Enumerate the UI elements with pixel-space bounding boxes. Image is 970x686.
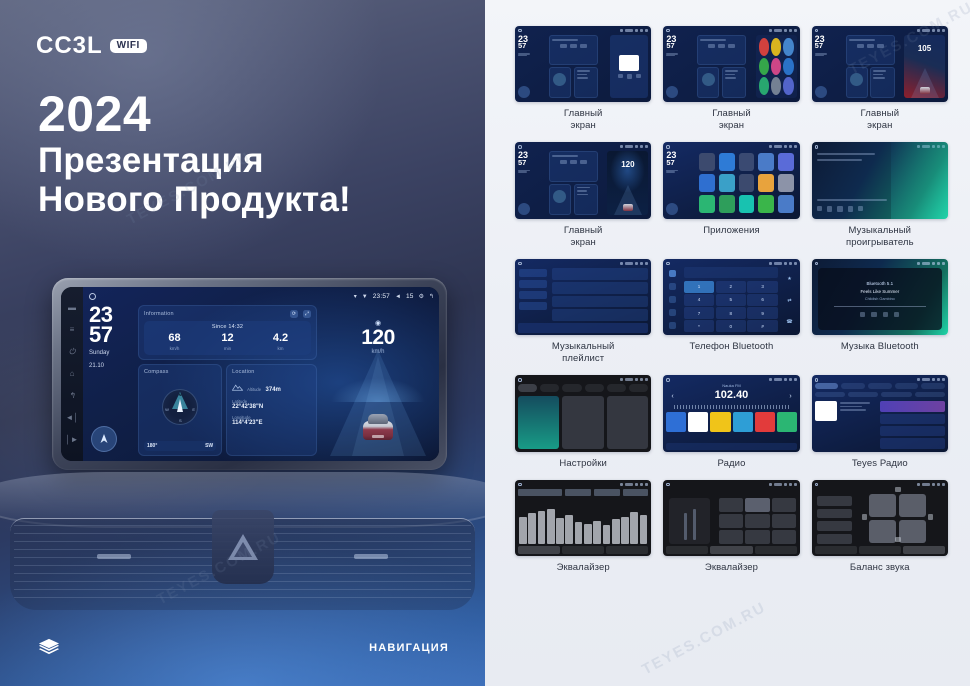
speaker-icon[interactable] — [899, 494, 926, 517]
radio-toolbar[interactable] — [666, 443, 796, 450]
screenshot-thumbnail[interactable] — [812, 375, 948, 451]
back-icon[interactable] — [942, 378, 945, 381]
information-actions[interactable]: ⟳ ⤢ — [290, 310, 311, 318]
eq-bands[interactable] — [519, 500, 647, 544]
eq-slider[interactable] — [575, 522, 583, 544]
track-row[interactable] — [552, 282, 649, 294]
compass-card[interactable] — [697, 67, 719, 98]
settings-card[interactable] — [562, 396, 603, 448]
gear-icon[interactable] — [789, 29, 792, 32]
mute-icon[interactable]: ≡ — [70, 326, 75, 334]
stat-value: 4.2 — [254, 333, 307, 344]
app-icon[interactable] — [739, 195, 755, 213]
screenshot-thumbnail[interactable]: Nauka FM102.40‹› — [663, 375, 799, 451]
station-preset[interactable] — [755, 412, 775, 432]
station-row[interactable] — [880, 426, 945, 437]
thumbnail-caption: Телефон Bluetooth — [690, 341, 774, 353]
eq-footer-tab[interactable] — [815, 546, 857, 554]
thumbnail-caption: Музыка Bluetooth — [841, 341, 919, 353]
eq-footer-tab[interactable] — [666, 546, 708, 554]
eq-footer-tabs[interactable] — [815, 546, 945, 554]
app-icon[interactable] — [739, 174, 755, 192]
volume-up-icon[interactable]: │► — [66, 436, 79, 444]
playlist-category[interactable] — [519, 269, 547, 277]
eq-preset[interactable] — [745, 514, 769, 528]
left-footer: НАВИГАЦИЯ — [0, 614, 485, 686]
settings-tab[interactable] — [540, 384, 559, 392]
screenshot-thumbnail[interactable]: 2357 — [663, 142, 799, 218]
app-grid[interactable] — [697, 151, 795, 214]
gallery-item[interactable]: 2357105Главныйэкран — [812, 26, 948, 132]
app-icon[interactable] — [699, 153, 715, 171]
gear-icon[interactable] — [640, 262, 643, 265]
refresh-icon[interactable]: ⟳ — [290, 310, 298, 318]
balance-up-button[interactable] — [895, 487, 901, 492]
app-icon[interactable] — [771, 58, 781, 76]
hazard-button[interactable] — [212, 510, 274, 584]
thumb-status-bar — [815, 261, 945, 266]
wifi-badge: WIFI — [110, 39, 147, 54]
dial-key[interactable]: 7 — [684, 307, 714, 319]
navigation-arrow-icon[interactable] — [91, 426, 117, 452]
teyes-filter[interactable] — [881, 392, 911, 397]
balance-preset[interactable] — [817, 509, 852, 519]
gear-icon[interactable] — [937, 262, 940, 265]
speaker-icon[interactable] — [869, 494, 896, 517]
teyes-filters[interactable] — [815, 392, 945, 397]
eq-preset[interactable] — [719, 514, 743, 528]
app-icon[interactable] — [699, 174, 715, 192]
left-hero-panel: CC3L WIFI 2024 Презентация Нового Продук… — [0, 0, 485, 686]
playlist-category[interactable] — [519, 302, 547, 310]
gallery-item[interactable]: Настройки — [515, 375, 651, 469]
menu-icon[interactable]: ▬ — [68, 304, 76, 312]
music-widget[interactable] — [610, 35, 648, 98]
eq-slider[interactable] — [593, 521, 601, 544]
speaker-icon[interactable] — [869, 520, 896, 543]
app-icon[interactable] — [771, 77, 781, 95]
gear-icon[interactable] — [640, 483, 643, 486]
eq-slider[interactable] — [528, 513, 536, 544]
location-card[interactable] — [722, 67, 747, 98]
home-circle-icon[interactable] — [815, 378, 819, 382]
back-icon[interactable] — [645, 262, 648, 265]
app-icon[interactable] — [719, 153, 735, 171]
eq-slider[interactable] — [519, 517, 527, 544]
app-icon[interactable] — [783, 58, 793, 76]
eq-footer-tab[interactable] — [562, 546, 604, 554]
head-unit-display[interactable]: ▾ ▼ 23:57 ◄ 15 ⚙ ↰ 23 57 Sunday 21. — [83, 287, 439, 461]
teyes-tab[interactable] — [841, 383, 865, 389]
screenshot-thumbnail[interactable]: 2357 — [663, 26, 799, 102]
thumbnail-caption: Главныйэкран — [712, 108, 751, 132]
eq-slider[interactable] — [630, 512, 638, 544]
settings-tabs[interactable] — [518, 384, 648, 392]
home-circle-icon[interactable] — [518, 483, 522, 487]
app-icon[interactable] — [783, 38, 793, 56]
stat-item: 4.2 km — [254, 333, 307, 351]
eq-preset[interactable] — [719, 530, 743, 544]
back-icon[interactable] — [942, 483, 945, 486]
gallery-item[interactable]: Музыкальныйпроигрыватель — [812, 142, 948, 248]
information-card[interactable] — [697, 35, 746, 65]
gallery-item[interactable]: Эквалайзер — [663, 480, 799, 574]
back-icon[interactable] — [794, 145, 797, 148]
station-preset[interactable] — [666, 412, 686, 432]
gallery-item[interactable]: Музыкальныйплейлист — [515, 259, 651, 365]
speaker-icon[interactable] — [899, 520, 926, 543]
gear-icon[interactable] — [937, 483, 940, 486]
thumb-clock — [625, 29, 633, 32]
dial-key[interactable]: 4 — [684, 294, 714, 306]
eq-preset[interactable] — [719, 498, 743, 512]
dial-actions[interactable]: ★⇄☎ — [781, 269, 797, 332]
back-icon[interactable]: ↰ — [69, 392, 76, 400]
information-card[interactable] — [549, 151, 598, 181]
bt-panel[interactable]: Bluetooth 5.1Feels Like SummerChildish G… — [818, 268, 942, 330]
head-unit-side-buttons[interactable]: ▬ ≡ ⏻ ⌂ ↰ ◄│ │► — [61, 287, 83, 461]
app-icon[interactable] — [758, 174, 774, 192]
station-row[interactable] — [880, 438, 945, 449]
eq-preset[interactable] — [745, 498, 769, 512]
balance-preset[interactable] — [817, 521, 852, 531]
gallery-item[interactable]: Teyes Радио — [812, 375, 948, 469]
location-card[interactable] — [870, 67, 895, 98]
eq-slider[interactable] — [538, 511, 546, 544]
eq-footer-tab[interactable] — [755, 546, 797, 554]
gear-icon[interactable] — [789, 262, 792, 265]
volume-down-icon[interactable]: ◄│ — [66, 414, 79, 422]
transport-controls[interactable] — [817, 206, 863, 212]
settings-tab[interactable] — [607, 384, 626, 392]
back-icon[interactable] — [942, 262, 945, 265]
dial-action-icon[interactable]: ★ — [787, 276, 791, 282]
dial-key[interactable]: 8 — [716, 307, 746, 319]
back-icon[interactable] — [794, 378, 797, 381]
eq-footer-tab[interactable] — [606, 546, 648, 554]
phone-tab-0[interactable] — [669, 270, 676, 277]
screenshot-thumbnail[interactable] — [515, 375, 651, 451]
eq-footer-tabs[interactable] — [666, 546, 796, 554]
compass-title: Compass — [144, 369, 216, 375]
settings-card[interactable] — [607, 396, 648, 448]
teyes-tab[interactable] — [895, 383, 919, 389]
eq-slider[interactable] — [612, 519, 620, 544]
teyes-now-playing[interactable] — [815, 401, 878, 448]
wifi-icon — [769, 483, 772, 486]
thumbnail-caption: Главныйэкран — [564, 108, 603, 132]
dial-key[interactable]: # — [747, 320, 777, 332]
eq-preset[interactable] — [772, 514, 796, 528]
app-icon[interactable] — [719, 174, 735, 192]
app-icon[interactable] — [778, 195, 794, 213]
eq-footer-tab[interactable] — [903, 546, 945, 554]
balance-preset[interactable] — [817, 534, 852, 544]
tune-up-icon[interactable]: › — [789, 393, 791, 400]
transport-controls[interactable] — [860, 312, 899, 317]
dial-key[interactable]: 2 — [716, 281, 746, 293]
speed-widget[interactable]: 105 — [904, 35, 945, 98]
product-logo: CC3L WIFI — [36, 32, 147, 60]
gallery-item[interactable]: 123456789*0#★⇄☎Телефон Bluetooth — [663, 259, 799, 365]
playlist-sidebar[interactable] — [518, 268, 548, 321]
balance-presets[interactable] — [817, 496, 852, 544]
back-icon[interactable] — [794, 483, 797, 486]
back-icon[interactable] — [645, 145, 648, 148]
dial-action-icon[interactable]: ⇄ — [787, 298, 791, 304]
gallery-item[interactable]: 2357Приложения — [663, 142, 799, 248]
now-playing[interactable] — [815, 151, 891, 214]
dial-key[interactable]: 6 — [747, 294, 777, 306]
gallery-item[interactable]: Эквалайзер — [515, 480, 651, 574]
dial-key[interactable]: 3 — [747, 281, 777, 293]
home-icon[interactable]: ⌂ — [70, 370, 75, 378]
gear-icon[interactable] — [640, 378, 643, 381]
settings-tab[interactable] — [562, 384, 581, 392]
navigation-arrow-icon[interactable] — [815, 86, 827, 98]
screenshot-thumbnail[interactable] — [812, 480, 948, 556]
screenshot-thumbnail[interactable] — [515, 259, 651, 335]
home-circle-icon[interactable] — [518, 29, 522, 33]
home-circle-icon[interactable] — [666, 262, 670, 266]
station-row[interactable] — [880, 401, 945, 412]
phone-tab-1[interactable] — [669, 283, 676, 290]
balance-left-button[interactable] — [862, 514, 867, 520]
teyes-tabs[interactable] — [815, 383, 945, 389]
balance-down-button[interactable] — [895, 537, 901, 542]
altitude-row: Altitude 374m — [232, 378, 311, 396]
compass-card[interactable] — [549, 67, 571, 98]
thumb-hours: 2357 — [518, 151, 548, 166]
home-circle-icon[interactable] — [815, 262, 819, 266]
eq-slider[interactable] — [640, 515, 648, 544]
wifi-icon — [769, 378, 772, 381]
information-card[interactable] — [549, 35, 598, 65]
information-card[interactable]: Information ⟳ ⤢ Since 14:32 — [138, 305, 317, 360]
latitude-value: 22°42'38"N — [232, 404, 311, 412]
gear-icon[interactable] — [640, 29, 643, 32]
eq-preset[interactable] — [772, 530, 796, 544]
information-card[interactable] — [846, 35, 895, 65]
eq-preset-bar[interactable] — [518, 489, 648, 496]
teyes-tab[interactable] — [815, 383, 839, 389]
tune-down-icon[interactable]: ‹ — [671, 393, 673, 400]
gear-icon[interactable] — [640, 145, 643, 148]
teyes-filter[interactable] — [815, 392, 845, 397]
app-icon[interactable] — [759, 58, 769, 76]
app-icon[interactable] — [778, 153, 794, 171]
eq-footer-tab[interactable] — [710, 546, 752, 554]
power-icon[interactable]: ⏻ — [69, 348, 75, 356]
thumb-status-bar — [666, 28, 796, 33]
speed-widget[interactable]: ◉ 120 km/h — [322, 305, 434, 456]
teyes-filter[interactable] — [848, 392, 878, 397]
gallery-item[interactable]: 2357120Главныйэкран — [515, 142, 651, 248]
phone-tab-2[interactable] — [669, 296, 676, 303]
eq-slider[interactable] — [556, 518, 564, 544]
balance-pad[interactable] — [869, 494, 926, 543]
eq-slider[interactable] — [547, 509, 555, 544]
teyes-station-list[interactable] — [880, 401, 945, 448]
wifi-icon: ▾ — [354, 294, 357, 300]
eq-slider[interactable] — [603, 525, 611, 544]
app-icon[interactable] — [778, 174, 794, 192]
settings-tab[interactable] — [585, 384, 604, 392]
track-row[interactable] — [552, 268, 649, 280]
phone-tab-4[interactable] — [669, 322, 676, 329]
gallery-item[interactable]: 2357Главныйэкран — [663, 26, 799, 132]
eq-footer-tab[interactable] — [518, 546, 560, 554]
home-circle-icon[interactable] — [518, 145, 522, 149]
compass-north-label: N — [179, 392, 182, 397]
dial-key[interactable]: * — [684, 320, 714, 332]
transport-controls[interactable] — [618, 74, 641, 79]
track-row[interactable] — [552, 296, 649, 308]
phone-tab-3[interactable] — [669, 309, 676, 316]
screenshot-thumbnail[interactable]: 123456789*0#★⇄☎ — [663, 259, 799, 335]
station-preset[interactable] — [733, 412, 753, 432]
settings-tab[interactable] — [629, 384, 648, 392]
expand-icon[interactable]: ⤢ — [303, 310, 311, 318]
teyes-tab[interactable] — [921, 383, 945, 389]
back-icon[interactable] — [794, 262, 797, 265]
station-preset[interactable] — [777, 412, 797, 432]
head-unit-device: ▬ ≡ ⏻ ⌂ ↰ ◄│ │► ▾ ▼ 23:57 ◄ — [52, 278, 447, 470]
app-icon[interactable] — [759, 77, 769, 95]
location-card[interactable] — [574, 184, 599, 215]
home-circle-icon[interactable] — [666, 145, 670, 149]
mini-player[interactable] — [518, 323, 648, 333]
back-icon[interactable] — [942, 29, 945, 32]
compass-card[interactable] — [549, 184, 571, 215]
thumb-date — [666, 170, 696, 173]
gallery-item[interactable]: Баланс звука — [812, 480, 948, 574]
wifi-card[interactable] — [518, 396, 559, 448]
logo-wordmark: CC3L — [36, 32, 103, 60]
screenshot-thumbnail[interactable] — [515, 480, 651, 556]
gear-icon[interactable] — [789, 483, 792, 486]
bt-label: Bluetooth 5.1 — [867, 281, 894, 286]
screenshot-thumbnail[interactable]: Bluetooth 5.1Feels Like SummerChildish G… — [812, 259, 948, 335]
back-icon[interactable] — [645, 29, 648, 32]
navigation-arrow-icon[interactable] — [666, 203, 678, 215]
app-shortcuts-panel[interactable] — [756, 35, 797, 98]
home-circle-icon[interactable] — [89, 293, 96, 300]
location-card[interactable]: Location Altitude 374m — [226, 364, 317, 457]
settings-cards[interactable] — [518, 396, 648, 448]
dial-action-icon[interactable]: ☎ — [786, 319, 792, 325]
home-circle-icon[interactable] — [815, 29, 819, 33]
playlist-category[interactable] — [519, 280, 547, 288]
app-icon[interactable] — [783, 77, 793, 95]
location-card[interactable] — [574, 67, 599, 98]
app-icon[interactable] — [719, 195, 735, 213]
dialpad-keys[interactable]: 123456789*0# — [684, 281, 778, 332]
eq-preset-grid[interactable] — [719, 498, 795, 544]
compass-card[interactable] — [846, 67, 868, 98]
gear-icon[interactable] — [937, 378, 940, 381]
settings-tab[interactable] — [518, 384, 537, 392]
compass-west-label: W — [165, 407, 169, 412]
app-icon[interactable] — [699, 195, 715, 213]
eq-footer-tab[interactable] — [859, 546, 901, 554]
navigation-arrow-icon[interactable] — [518, 203, 530, 215]
track-row[interactable] — [552, 309, 649, 321]
thumb-clock — [922, 483, 930, 486]
back-icon[interactable] — [794, 29, 797, 32]
balance-right-button[interactable] — [928, 514, 933, 520]
screenshot-thumbnail[interactable] — [812, 142, 948, 218]
app-icon[interactable] — [758, 153, 774, 171]
back-icon[interactable] — [645, 483, 648, 486]
eq-footer-tabs[interactable] — [518, 546, 648, 554]
back-arrow-icon[interactable]: ↰ — [429, 294, 434, 300]
home-circle-icon[interactable] — [518, 262, 522, 266]
app-icon[interactable] — [759, 38, 769, 56]
eq-slider[interactable] — [584, 524, 592, 544]
phone-sidebar[interactable] — [665, 267, 680, 332]
gallery-item[interactable]: Nauka FM102.40‹›Радио — [663, 375, 799, 469]
volume-icon — [932, 29, 935, 32]
eq-fader-panel[interactable] — [669, 498, 710, 544]
gallery-item[interactable]: 2357Главныйэкран — [515, 26, 651, 132]
dial-key[interactable]: 0 — [716, 320, 746, 332]
home-circle-icon[interactable] — [518, 378, 522, 382]
eq-slider[interactable] — [621, 517, 629, 544]
signal-icon: ▼ — [362, 294, 368, 300]
gear-icon[interactable]: ⚙ — [419, 294, 424, 300]
gear-icon[interactable] — [937, 29, 940, 32]
gear-icon[interactable] — [789, 378, 792, 381]
playlist-category[interactable] — [519, 291, 547, 299]
screenshot-thumbnail[interactable]: 2357120 — [515, 142, 651, 218]
balance-preset[interactable] — [817, 496, 852, 506]
dial-key[interactable]: 1 — [684, 281, 714, 293]
station-presets[interactable] — [666, 412, 796, 432]
teyes-tab[interactable] — [868, 383, 892, 389]
teyes-filter[interactable] — [915, 392, 945, 397]
station-preset[interactable] — [688, 412, 708, 432]
thumb-clock — [774, 378, 782, 381]
home-circle-icon[interactable] — [666, 29, 670, 33]
eq-slider[interactable] — [565, 515, 573, 544]
compass-card[interactable]: Compass N E W S — [138, 364, 222, 457]
gallery-item[interactable]: Bluetooth 5.1Feels Like SummerChildish G… — [812, 259, 948, 365]
dial-key[interactable]: 5 — [716, 294, 746, 306]
track-list[interactable] — [552, 268, 649, 321]
back-icon[interactable] — [645, 378, 648, 381]
home-circle-icon[interactable] — [666, 378, 670, 382]
screenshot-thumbnail[interactable] — [663, 480, 799, 556]
station-row[interactable] — [880, 414, 945, 425]
thumb-hours: 2357 — [666, 151, 696, 166]
station-preset[interactable] — [710, 412, 730, 432]
screenshot-thumbnail[interactable]: 2357 — [515, 26, 651, 102]
app-icon[interactable] — [771, 38, 781, 56]
eq-preset[interactable] — [772, 498, 796, 512]
app-icon[interactable] — [758, 195, 774, 213]
home-circle-icon[interactable] — [815, 145, 819, 149]
gear-icon[interactable] — [789, 145, 792, 148]
dial-key[interactable]: 9 — [747, 307, 777, 319]
home-circle-icon[interactable] — [666, 483, 670, 487]
app-icon[interactable] — [739, 153, 755, 171]
eq-preset[interactable] — [745, 530, 769, 544]
widget-column: Information ⟳ ⤢ Since 14:32 — [138, 305, 317, 456]
speed-widget[interactable]: 120 — [607, 151, 648, 214]
screenshot-thumbnail[interactable]: 2357105 — [812, 26, 948, 102]
home-circle-icon[interactable] — [815, 483, 819, 487]
